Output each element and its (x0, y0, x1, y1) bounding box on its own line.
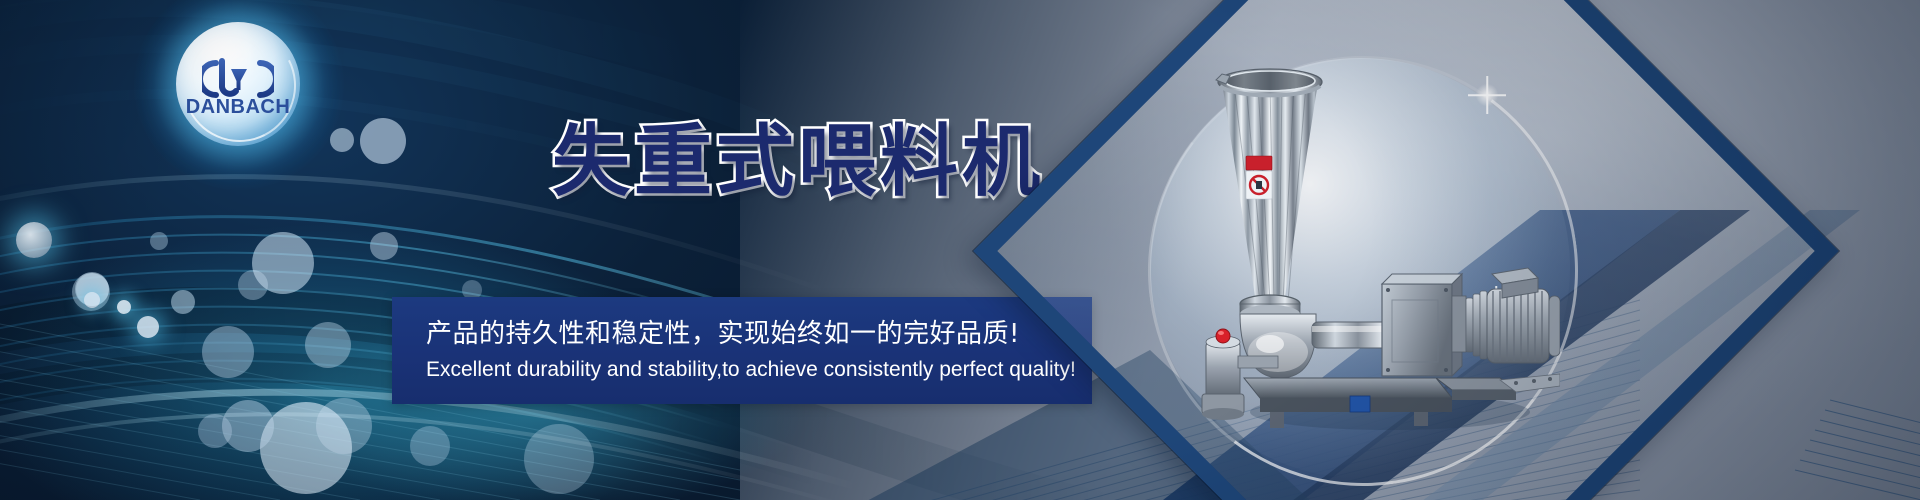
page-title: 失重式喂料机 (552, 122, 1044, 204)
danbach-mark-icon (202, 57, 274, 101)
bokeh-circle (330, 128, 354, 152)
bokeh-circle (16, 222, 52, 258)
brand-logo[interactable]: DANBACH (176, 22, 300, 146)
subtitle-panel: 产品的持久性和稳定性，实现始终如一的完好品质! Excellent durabi… (392, 297, 1092, 404)
bokeh-circle (84, 292, 100, 308)
bokeh-circle (410, 426, 450, 466)
bokeh-circle (202, 326, 254, 378)
bokeh-circle (316, 398, 372, 454)
bokeh-circle (137, 316, 159, 338)
bokeh-circle (117, 300, 131, 314)
bokeh-circle (238, 270, 268, 300)
bokeh-circle (171, 290, 195, 314)
product-hero-banner: DANBACH 失重式喂料机 产品的持久性和稳定性，实现始终如一的完好品质! E… (0, 0, 1920, 500)
bokeh-circle (360, 118, 406, 164)
bokeh-circle (524, 424, 594, 494)
brand-wordmark: DANBACH (176, 96, 300, 119)
bokeh-circle (370, 232, 398, 260)
product-image-loss-in-weight-feeder (1200, 60, 1560, 440)
subtitle-english: Excellent durability and stability,to ac… (426, 358, 1076, 382)
bokeh-circle (305, 322, 351, 368)
bokeh-circle (150, 232, 168, 250)
bokeh-circle (198, 414, 232, 448)
subtitle-chinese: 产品的持久性和稳定性，实现始终如一的完好品质! (426, 313, 1020, 350)
